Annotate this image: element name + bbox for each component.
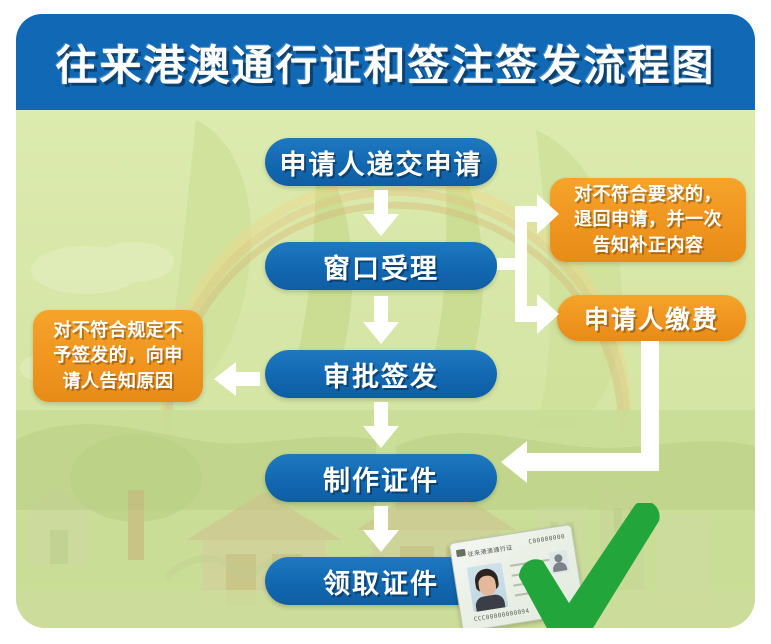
step-node-4[interactable]: 制作证件 [265, 454, 497, 502]
arrow-step1-to-step2 [363, 190, 399, 238]
step-node-3-label: 审批签发 [323, 355, 439, 394]
step-node-2-label: 窗口受理 [323, 247, 439, 286]
arrow-step4-to-step5 [363, 506, 399, 554]
payment-node-label: 申请人缴费 [584, 300, 719, 336]
step-node-4-label: 制作证件 [323, 459, 439, 498]
arrow-step3-to-note [214, 362, 260, 396]
step-node-3[interactable]: 审批签发 [265, 350, 497, 398]
arrow-step2-to-step3 [363, 296, 399, 346]
arrow-step2-branch [497, 194, 559, 334]
note-node-reject-issue[interactable]: 对不符合规定不 予签发的，向申 请人告知原因 [33, 310, 203, 402]
flowchart-poster: 往来港澳通行证和签注签发流程图 [0, 0, 771, 644]
page-title: 往来港澳通行证和签注签发流程图 [55, 32, 715, 93]
note-node-reject-application-label: 对不符合要求的， 退回申请，并一次 告知补正内容 [574, 182, 722, 259]
step-node-1-label: 申请人递交申请 [280, 143, 483, 182]
note-node-reject-issue-label: 对不符合规定不 予签发的，向申 请人告知原因 [53, 318, 183, 395]
green-check-mark [505, 503, 675, 628]
payment-node[interactable]: 申请人缴费 [557, 295, 746, 341]
permit-card-emblem [456, 549, 466, 557]
arrow-payment-to-step4 [501, 341, 673, 489]
arrow-step3-to-step4 [363, 402, 399, 450]
step-node-5-label: 领取证件 [323, 562, 439, 601]
step-node-1[interactable]: 申请人递交申请 [265, 138, 497, 186]
step-node-2[interactable]: 窗口受理 [265, 242, 497, 290]
flowchart-panel: 申请人递交申请 窗口受理 审批签发 制作证件 领取证件 对不符合要求的， 退回申… [16, 110, 755, 628]
header-banner: 往来港澳通行证和签注签发流程图 [16, 14, 755, 110]
photo-body [475, 593, 506, 612]
note-node-reject-application[interactable]: 对不符合要求的， 退回申请，并一次 告知补正内容 [550, 178, 746, 262]
permit-card-photo [467, 562, 509, 612]
